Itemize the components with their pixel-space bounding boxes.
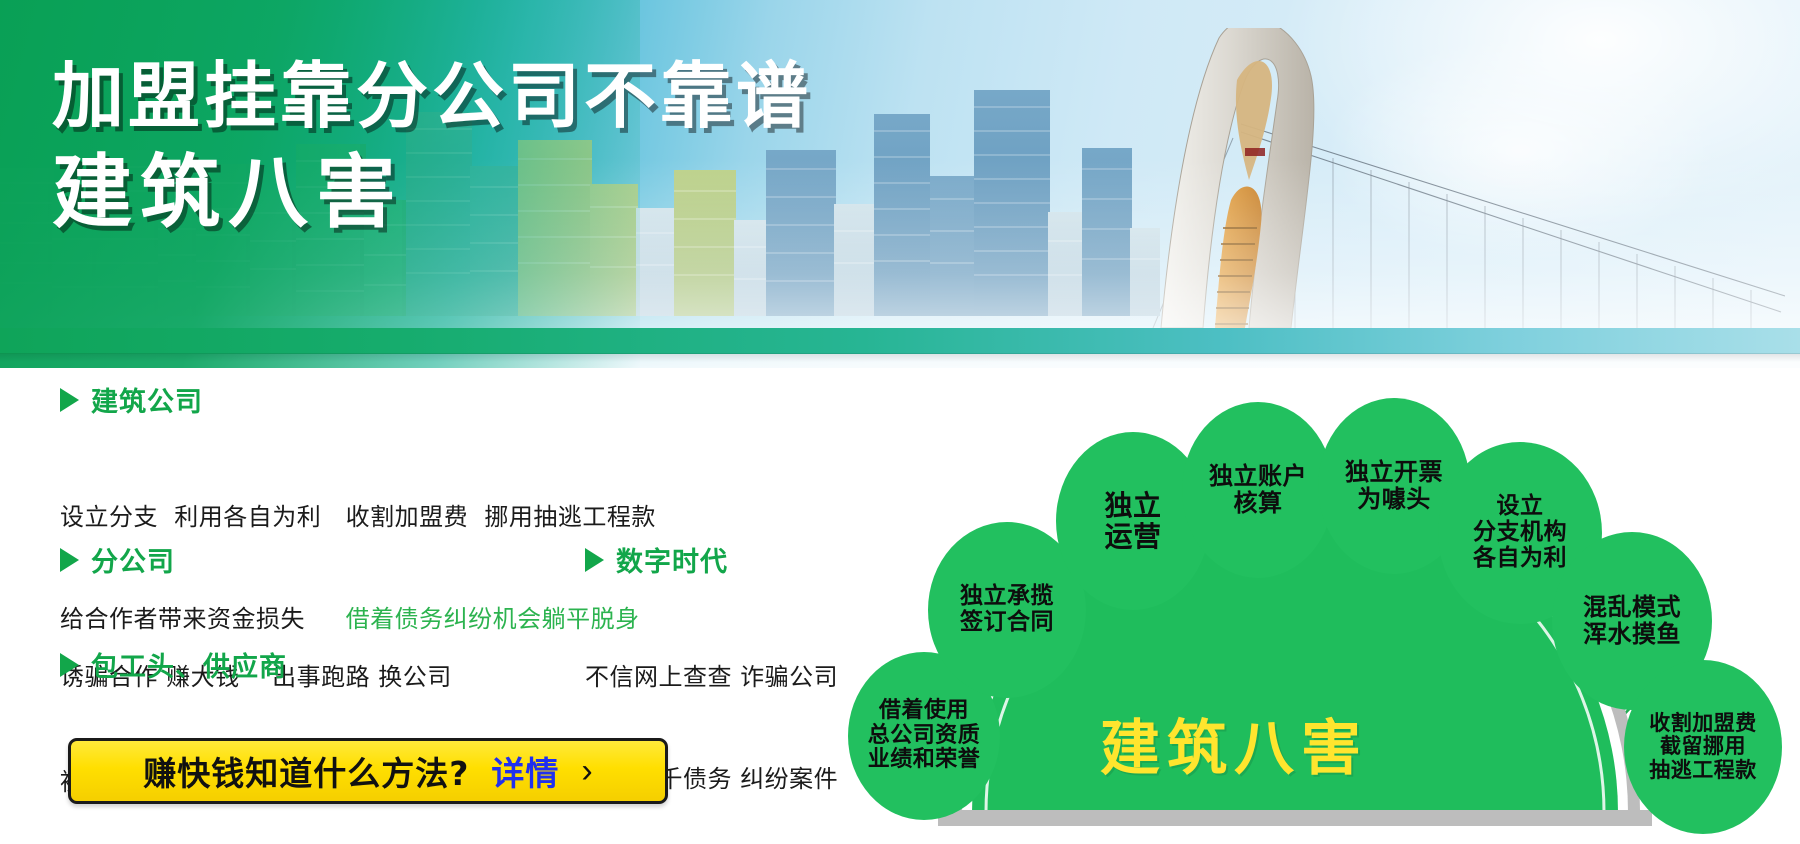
bubble-line: 浑水摸鱼 [1583,621,1681,648]
section-body-line-1: 设立分支 利用各自为利 收割加盟费 挪用抽逃工程款 [60,500,656,534]
section-header: 包工头、供应商 [60,645,460,684]
bubble-line: 业绩和荣誉 [868,748,981,773]
triangle-bullet-icon [60,548,79,572]
bubble-line: 混乱模式 [1583,594,1681,621]
bubble-line: 独立账户 [1209,463,1307,490]
section-title: 包工头、供应商 [91,645,287,684]
hero-title-block: 加盟挂靠分公司不靠谱 建筑八害 [52,58,812,236]
bubble-line: 截留挪用 [1649,735,1757,759]
bubble-line: 运营 [1104,521,1161,552]
hero-banner: 加盟挂靠分公司不靠谱 建筑八害 [0,0,1800,368]
section-title: 建筑公司 [91,380,203,419]
bubble-line: 总公司资质 [868,724,981,749]
bubble-line: 核算 [1209,490,1307,517]
left-content-column: 建筑公司 设立分支 利用各自为利 收割加盟费 挪用抽逃工程款 给合作者带来资金损… [0,380,830,844]
bubble-line: 各自为利 [1473,546,1567,572]
cta-label: 赚快钱知道什么方法? [143,747,469,795]
chevron-right-icon: › [581,754,592,788]
bubble-line: 独立承揽 [960,584,1054,610]
bubble-line: 设立 [1473,494,1567,520]
hero-title-line1: 加盟挂靠分公司不靠谱 [52,58,812,136]
bubble-line: 借着使用 [868,699,981,724]
triangle-bullet-icon [60,653,79,677]
dome-center-label: 建筑八害 [1100,700,1368,787]
bubble-line: 抽逃工程款 [1649,759,1757,783]
section-title: 数字时代 [616,540,728,579]
section-header: 建筑公司 [60,380,656,419]
triangle-bullet-icon [585,548,604,572]
bubble-line: 独立 [1104,490,1161,521]
section-header: 分公司 [60,540,452,579]
section-title: 分公司 [91,540,175,579]
bubble-line: 收割加盟费 [1649,712,1757,736]
bubble-line: 分支机构 [1473,520,1567,546]
bubble-line: 签订合同 [960,610,1054,636]
cta-detail-link[interactable]: 详情 [491,747,559,795]
bubble-line: 为噱头 [1345,486,1443,513]
poster-root: 加盟挂靠分公司不靠谱 建筑八害 建筑公司 设立分支 利用各自为利 收割加盟费 挪… [0,0,1800,844]
bubble-line: 独立开票 [1345,459,1443,486]
triangle-bullet-icon [60,388,79,412]
bubble-independent-account[interactable]: 独立账户 核算 [1182,402,1334,578]
bubble-harvest-franchise-fees[interactable]: 收割加盟费 截留挪用 抽逃工程款 [1624,660,1782,834]
hero-title-line2: 建筑八害 [52,150,812,236]
dome-baseline [938,810,1652,815]
eight-harms-diagram: 借着使用 总公司资质 业绩和荣誉 独立承揽 签订合同 独立 运营 独立账户 核算 [790,340,1800,844]
cta-button[interactable]: 赚快钱知道什么方法? 详情 › [68,738,668,804]
